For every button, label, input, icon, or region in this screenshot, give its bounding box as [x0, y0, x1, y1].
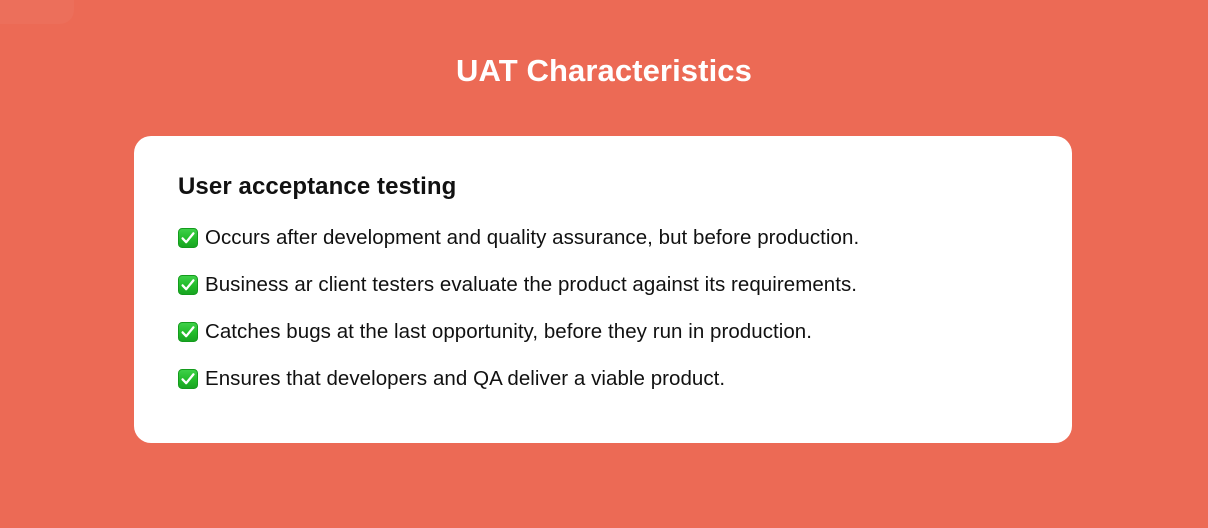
list-item: Catches bugs at the last opportunity, be…: [178, 320, 1028, 344]
slide-canvas: UAT Characteristics User acceptance test…: [0, 0, 1208, 528]
characteristics-list: Occurs after development and quality ass…: [178, 226, 1028, 391]
list-item: Business ar client testers evaluate the …: [178, 273, 1028, 297]
check-mark-button-icon: [178, 228, 198, 248]
list-item-label: Ensures that developers and QA deliver a…: [205, 367, 725, 391]
list-item-label: Business ar client testers evaluate the …: [205, 273, 857, 297]
list-item-label: Catches bugs at the last opportunity, be…: [205, 320, 812, 344]
card-heading: User acceptance testing: [178, 172, 1028, 202]
corner-artifact: [0, 0, 74, 24]
content-card: User acceptance testing: [134, 136, 1072, 443]
check-mark-button-icon: [178, 322, 198, 342]
check-mark-button-icon: [178, 275, 198, 295]
list-item: Ensures that developers and QA deliver a…: [178, 367, 1028, 391]
check-mark-button-icon: [178, 369, 198, 389]
list-item: Occurs after development and quality ass…: [178, 226, 1028, 250]
page-title: UAT Characteristics: [0, 49, 1208, 93]
list-item-label: Occurs after development and quality ass…: [205, 226, 859, 250]
